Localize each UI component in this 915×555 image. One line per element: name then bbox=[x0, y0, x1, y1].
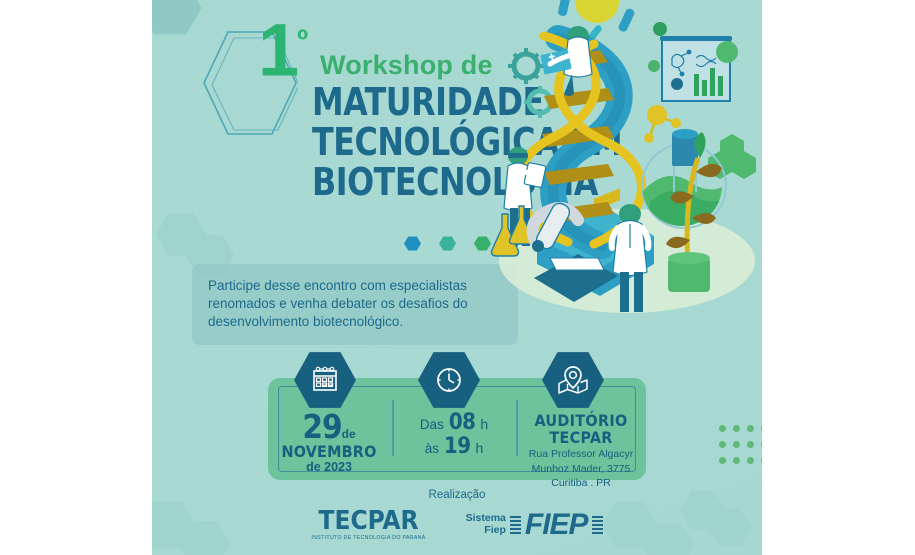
place-name-line-1: AUDITÓRIO bbox=[516, 412, 646, 429]
date-year: de 2023 bbox=[268, 460, 390, 475]
time-start-row: Das 08 h bbox=[394, 412, 514, 436]
place-name-line-2: TECPAR bbox=[516, 429, 646, 446]
tecpar-logo: TECPAR INSTITUTO DE TECNOLOGIA DO PARANÁ bbox=[311, 508, 425, 541]
decor-hexagon-trio bbox=[404, 236, 491, 251]
workshop-label: Workshop de bbox=[320, 50, 493, 81]
event-info-band: 29de NOVEMBRO de 2023 Das 08 h às 19 h A… bbox=[268, 378, 646, 480]
date-day: 29 bbox=[302, 407, 341, 446]
decor-hexagon-top-left bbox=[152, 0, 202, 36]
ordinal-digit: 1 bbox=[258, 9, 297, 92]
sponsor-logos: TECPAR INSTITUTO DE TECNOLOGIA DO PARANÁ… bbox=[152, 508, 762, 541]
description-text: Participe desse encontro com especialist… bbox=[192, 264, 518, 345]
event-place-column: AUDITÓRIO TECPAR Rua Professor Algacyr M… bbox=[516, 412, 646, 490]
place-address-line-3: Curitiba . PR bbox=[516, 477, 646, 490]
time-from-unit: h bbox=[480, 413, 488, 435]
decor-dot-grid bbox=[719, 425, 762, 473]
date-day-row: 29de bbox=[268, 412, 390, 443]
fiep-logo: Sistema Fiep FIEP bbox=[466, 510, 603, 540]
realizacao-label: Realização bbox=[152, 489, 762, 501]
time-from-value: 08 bbox=[449, 412, 476, 434]
place-address-line-1: Rua Professor Algacyr bbox=[516, 448, 646, 461]
fiep-sistema-text: Sistema Fiep bbox=[466, 513, 506, 536]
event-poster: 1º Workshop de MATURIDADE TECNOLÓGICA EM… bbox=[152, 0, 762, 555]
biotech-laboratory-illustration bbox=[482, 0, 762, 346]
trio-hex-blue bbox=[404, 236, 421, 251]
time-to-label: às bbox=[425, 438, 439, 460]
time-end-row: às 19 h bbox=[394, 436, 514, 460]
date-month: NOVEMBRO bbox=[268, 443, 390, 460]
fiep-wordmark: FIEP bbox=[525, 510, 588, 540]
ordinal-superscript: º bbox=[297, 24, 306, 57]
tecpar-wordmark: TECPAR bbox=[311, 508, 425, 534]
event-date-column: 29de NOVEMBRO de 2023 bbox=[268, 412, 390, 475]
fiep-sistema-line-1: Sistema bbox=[466, 513, 506, 525]
tecpar-tagline: INSTITUTO DE TECNOLOGIA DO PARANÁ bbox=[311, 535, 425, 541]
fiep-bars-right-icon bbox=[592, 516, 603, 534]
time-from-label: Das bbox=[420, 414, 444, 436]
ordinal-number: 1º bbox=[258, 4, 306, 88]
event-time-column: Das 08 h às 19 h bbox=[394, 412, 514, 460]
fiep-bars-left-icon bbox=[510, 516, 521, 534]
time-to-value: 19 bbox=[444, 436, 471, 458]
time-to-unit: h bbox=[476, 437, 484, 459]
poster-canvas: 1º Workshop de MATURIDADE TECNOLÓGICA EM… bbox=[0, 0, 915, 555]
place-address-line-2: Munhoz Mader, 3775 bbox=[516, 463, 646, 476]
fiep-sistema-line-2: Fiep bbox=[466, 525, 506, 537]
date-day-suffix: de bbox=[342, 427, 356, 441]
trio-hex-teal bbox=[439, 236, 456, 251]
